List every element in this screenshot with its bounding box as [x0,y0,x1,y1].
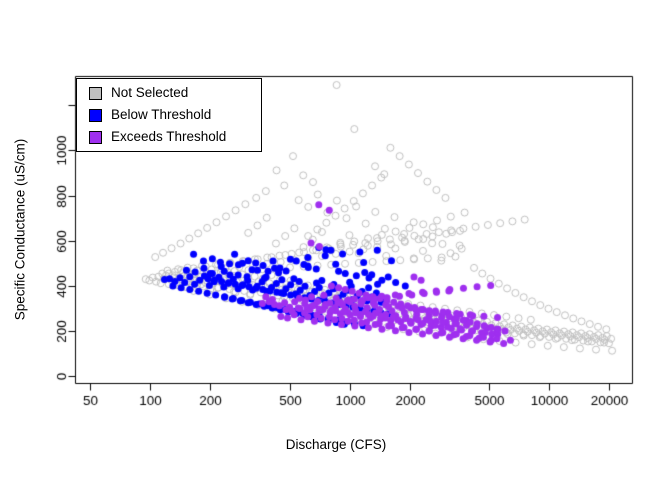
legend-item-below-threshold: Below Threshold [89,104,211,126]
legend-swatch-not-selected [89,87,102,100]
legend-label-not-selected: Not Selected [111,86,188,100]
x-axis-title: Discharge (CFS) [0,437,672,452]
legend-swatch-below-threshold [89,109,102,122]
y-axis-title: Specific Conductance (uS/cm) [13,100,28,360]
legend: Not Selected Below Threshold Exceeds Thr… [76,78,262,152]
plot-canvas [0,0,672,480]
legend-item-not-selected: Not Selected [89,82,188,104]
legend-label-exceeds-threshold: Exceeds Threshold [111,130,226,144]
legend-label-below-threshold: Below Threshold [111,108,211,122]
legend-item-exceeds-threshold: Exceeds Threshold [89,126,226,148]
legend-swatch-exceeds-threshold [89,131,102,144]
scatter-plot-figure: Specific Conductance (uS/cm) Discharge (… [0,0,672,480]
